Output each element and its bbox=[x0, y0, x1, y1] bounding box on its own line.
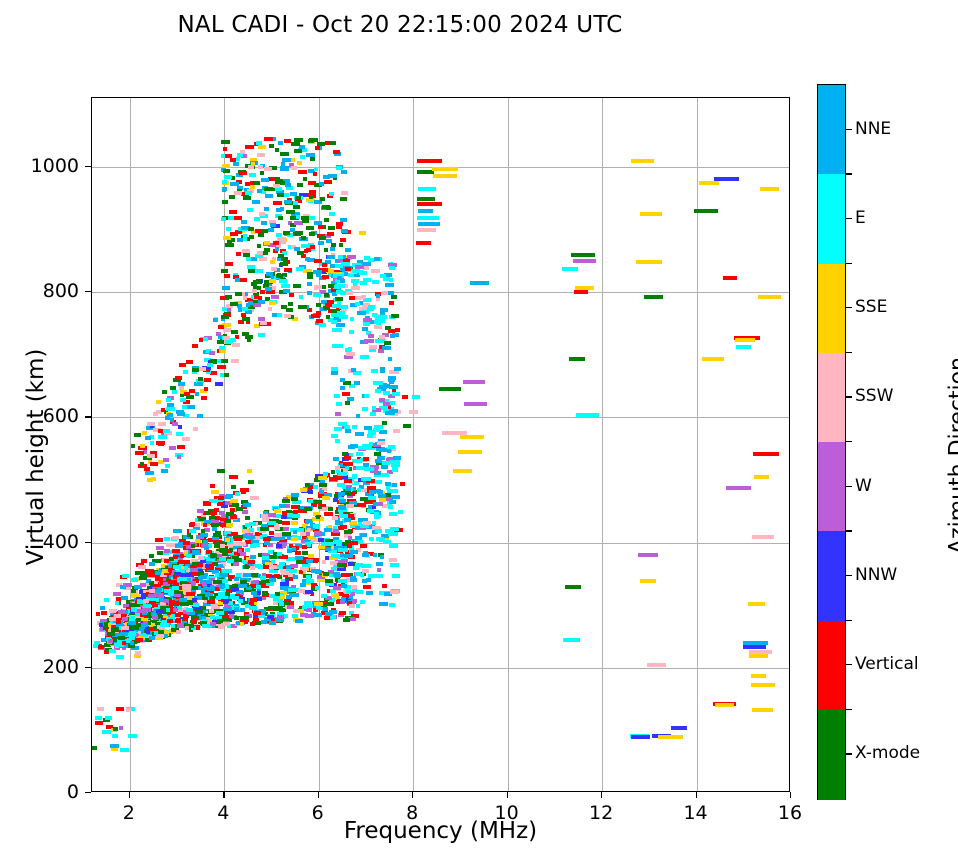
echo-mark bbox=[383, 540, 391, 544]
echo-mark bbox=[204, 387, 208, 391]
colorbar-title: Azimuth Direction bbox=[946, 336, 958, 576]
echo-mark bbox=[197, 509, 204, 513]
echo-mark bbox=[203, 523, 207, 527]
x-tick-mark bbox=[129, 792, 130, 798]
echo-mark bbox=[314, 167, 318, 171]
echo-mark bbox=[178, 425, 182, 429]
echo-mark bbox=[295, 551, 301, 555]
echo-mark bbox=[362, 553, 367, 557]
echo-mark bbox=[96, 612, 100, 616]
echo-mark bbox=[346, 352, 355, 356]
echo-mark bbox=[297, 251, 304, 255]
y-tick-mark bbox=[85, 166, 91, 167]
echo-mark bbox=[225, 519, 231, 523]
colorbar bbox=[817, 84, 846, 800]
echo-mark bbox=[305, 483, 310, 487]
echo-mark bbox=[345, 248, 351, 252]
echo-mark bbox=[135, 451, 144, 455]
echo-mark bbox=[418, 209, 433, 213]
echo-mark bbox=[309, 190, 316, 194]
echo-mark bbox=[323, 472, 328, 476]
echo-mark bbox=[341, 597, 346, 601]
y-tick-mark bbox=[85, 291, 91, 292]
echo-mark bbox=[314, 259, 322, 263]
echo-mark bbox=[243, 253, 250, 257]
echo-mark bbox=[331, 313, 340, 317]
echo-mark bbox=[254, 611, 261, 615]
echo-mark bbox=[155, 538, 163, 542]
echo-mark bbox=[349, 330, 354, 334]
echo-mark bbox=[284, 268, 292, 272]
echo-mark bbox=[439, 387, 461, 391]
echo-mark bbox=[374, 257, 380, 261]
echo-mark bbox=[385, 326, 391, 330]
echo-mark bbox=[207, 363, 213, 367]
echo-mark bbox=[354, 381, 360, 385]
echo-mark bbox=[357, 488, 361, 492]
echo-mark bbox=[230, 499, 238, 503]
echo-mark bbox=[224, 175, 232, 179]
echo-mark bbox=[346, 291, 353, 295]
echo-mark bbox=[714, 177, 739, 181]
echo-mark bbox=[177, 412, 185, 416]
echo-mark bbox=[164, 589, 172, 593]
echo-mark bbox=[384, 341, 391, 345]
echo-mark bbox=[280, 152, 289, 156]
echo-mark bbox=[280, 582, 289, 586]
echo-mark bbox=[341, 573, 349, 577]
echo-mark bbox=[209, 351, 215, 355]
echo-mark bbox=[311, 569, 320, 573]
echo-mark bbox=[277, 193, 284, 197]
echo-mark bbox=[219, 573, 228, 577]
echo-mark bbox=[281, 284, 290, 288]
echo-mark bbox=[270, 223, 276, 227]
echo-mark bbox=[279, 504, 286, 508]
echo-mark bbox=[156, 441, 165, 445]
echo-mark bbox=[180, 602, 188, 606]
echo-mark bbox=[360, 544, 367, 548]
echo-mark bbox=[432, 167, 458, 171]
echo-mark bbox=[118, 636, 125, 640]
echo-mark bbox=[171, 624, 175, 628]
echo-mark bbox=[250, 496, 259, 500]
echo-mark bbox=[295, 196, 301, 200]
echo-mark bbox=[264, 241, 270, 245]
echo-mark bbox=[166, 608, 170, 612]
echo-mark bbox=[146, 630, 150, 634]
echo-mark bbox=[109, 649, 116, 653]
echo-mark bbox=[749, 654, 768, 658]
echo-mark bbox=[262, 556, 269, 560]
echo-mark bbox=[375, 389, 381, 393]
echo-mark bbox=[209, 596, 215, 600]
echo-mark bbox=[197, 382, 203, 386]
echo-mark bbox=[314, 613, 322, 617]
colorbar-boundary-tick bbox=[846, 263, 852, 264]
echo-mark bbox=[264, 248, 270, 252]
echo-mark bbox=[320, 517, 324, 521]
echo-mark bbox=[225, 538, 230, 542]
echo-mark bbox=[308, 139, 314, 143]
echo-mark bbox=[288, 573, 293, 577]
echo-mark bbox=[229, 210, 237, 214]
echo-mark bbox=[235, 292, 242, 296]
echo-mark bbox=[389, 603, 395, 607]
y-tick-label: 200 bbox=[11, 656, 79, 678]
echo-mark bbox=[340, 378, 345, 382]
echo-mark bbox=[141, 559, 147, 563]
echo-mark bbox=[349, 604, 355, 608]
echo-mark bbox=[233, 542, 240, 546]
echo-mark bbox=[95, 721, 103, 725]
echo-mark bbox=[638, 553, 658, 557]
echo-mark bbox=[383, 384, 390, 388]
echo-mark bbox=[341, 191, 348, 195]
echo-mark bbox=[141, 623, 148, 627]
echo-mark bbox=[640, 579, 656, 583]
echo-mark bbox=[355, 536, 362, 540]
echo-mark bbox=[313, 485, 318, 489]
echo-mark bbox=[390, 489, 398, 493]
echo-mark bbox=[234, 537, 242, 541]
echo-mark bbox=[213, 318, 218, 322]
echo-mark bbox=[313, 172, 317, 176]
echo-mark bbox=[177, 577, 185, 581]
echo-mark bbox=[356, 414, 360, 418]
echo-mark bbox=[263, 565, 269, 569]
echo-mark bbox=[326, 206, 331, 210]
echo-mark bbox=[321, 594, 327, 598]
echo-mark bbox=[391, 295, 397, 299]
echo-mark bbox=[284, 193, 289, 197]
echo-mark bbox=[330, 141, 336, 145]
echo-mark bbox=[197, 414, 203, 418]
echo-mark bbox=[147, 422, 155, 426]
echo-mark bbox=[239, 171, 247, 175]
echo-mark bbox=[226, 227, 231, 231]
echo-mark bbox=[262, 591, 268, 595]
echo-mark bbox=[243, 237, 247, 241]
echo-mark bbox=[378, 319, 385, 323]
echo-mark bbox=[383, 391, 390, 395]
echo-mark bbox=[388, 357, 392, 361]
echo-mark bbox=[119, 726, 123, 730]
echo-mark bbox=[278, 216, 283, 220]
echo-mark bbox=[225, 592, 230, 596]
echo-mark bbox=[175, 619, 181, 623]
echo-mark bbox=[372, 521, 376, 525]
echo-mark bbox=[338, 579, 347, 583]
echo-mark bbox=[269, 531, 274, 535]
echo-mark bbox=[336, 290, 343, 294]
echo-mark bbox=[277, 565, 283, 569]
echo-mark bbox=[333, 586, 341, 590]
echo-mark bbox=[416, 241, 431, 245]
echo-mark bbox=[368, 505, 372, 509]
echo-mark bbox=[135, 651, 141, 655]
echo-mark bbox=[385, 283, 394, 287]
echo-mark bbox=[268, 513, 276, 517]
echo-mark bbox=[129, 616, 135, 620]
echo-mark bbox=[134, 433, 141, 437]
echo-mark bbox=[210, 622, 216, 626]
echo-mark bbox=[748, 602, 765, 606]
echo-mark bbox=[327, 602, 334, 606]
echo-mark bbox=[644, 295, 663, 299]
echo-mark bbox=[154, 593, 163, 597]
echo-mark bbox=[252, 200, 260, 204]
echo-mark bbox=[248, 480, 254, 484]
echo-mark bbox=[378, 494, 386, 498]
echo-mark bbox=[390, 590, 399, 594]
echo-mark bbox=[120, 748, 129, 752]
echo-mark bbox=[136, 638, 143, 642]
echo-mark bbox=[362, 407, 368, 411]
echo-mark bbox=[316, 319, 323, 323]
echo-mark bbox=[224, 373, 229, 377]
echo-mark bbox=[364, 256, 370, 260]
echo-mark bbox=[364, 394, 369, 398]
echo-mark bbox=[379, 335, 385, 339]
echo-mark bbox=[271, 537, 280, 541]
echo-mark bbox=[207, 600, 215, 604]
echo-mark bbox=[197, 563, 203, 567]
echo-mark bbox=[293, 609, 300, 613]
echo-mark bbox=[156, 546, 164, 550]
echo-mark bbox=[350, 576, 356, 580]
echo-mark bbox=[363, 318, 372, 322]
echo-mark bbox=[326, 542, 334, 546]
echo-mark bbox=[363, 457, 369, 461]
echo-mark bbox=[631, 159, 654, 163]
echo-mark bbox=[205, 564, 210, 568]
echo-mark bbox=[183, 370, 188, 374]
echo-mark bbox=[257, 153, 265, 157]
echo-mark bbox=[269, 621, 276, 625]
echo-mark bbox=[402, 395, 408, 399]
echo-mark bbox=[360, 355, 369, 359]
echo-mark bbox=[154, 631, 158, 635]
echo-mark bbox=[291, 505, 298, 509]
echo-mark bbox=[387, 449, 391, 453]
echo-mark bbox=[324, 293, 329, 297]
echo-mark bbox=[184, 566, 188, 570]
echo-mark bbox=[112, 627, 119, 631]
echo-mark bbox=[131, 444, 135, 448]
echo-mark bbox=[264, 541, 270, 545]
colorbar-segment-e bbox=[818, 174, 845, 264]
echo-mark bbox=[280, 262, 288, 266]
echo-mark bbox=[702, 357, 724, 361]
echo-mark bbox=[166, 398, 171, 402]
echo-mark bbox=[268, 550, 273, 554]
echo-mark bbox=[195, 392, 199, 396]
echo-mark bbox=[390, 460, 400, 464]
echo-mark bbox=[368, 496, 376, 500]
echo-mark bbox=[291, 166, 297, 170]
echo-mark bbox=[142, 431, 147, 435]
echo-mark bbox=[221, 359, 228, 363]
echo-mark bbox=[221, 269, 228, 273]
echo-mark bbox=[339, 243, 343, 247]
echo-mark bbox=[324, 268, 328, 272]
colorbar-boundary-tick bbox=[846, 620, 852, 621]
echo-mark bbox=[92, 746, 97, 750]
echo-mark bbox=[140, 583, 146, 587]
echo-mark bbox=[388, 291, 394, 295]
echo-mark bbox=[392, 574, 400, 578]
echo-mark bbox=[243, 573, 251, 577]
echo-mark bbox=[356, 590, 363, 594]
echo-mark bbox=[389, 558, 397, 562]
echo-mark bbox=[150, 462, 158, 466]
echo-mark bbox=[369, 345, 377, 349]
echo-mark bbox=[316, 515, 320, 519]
echo-mark bbox=[236, 252, 241, 256]
echo-mark bbox=[373, 428, 380, 432]
echo-mark bbox=[169, 557, 174, 561]
echo-mark bbox=[373, 553, 377, 557]
echo-mark bbox=[236, 507, 243, 511]
echo-mark bbox=[249, 173, 256, 177]
echo-mark bbox=[222, 180, 227, 184]
echo-mark bbox=[215, 516, 220, 520]
echo-mark bbox=[147, 454, 155, 458]
echo-mark bbox=[307, 272, 313, 276]
echo-mark bbox=[331, 470, 335, 474]
echo-mark bbox=[222, 622, 230, 626]
echo-mark bbox=[376, 574, 383, 578]
echo-mark bbox=[257, 251, 263, 255]
echo-mark bbox=[166, 407, 175, 411]
echo-mark bbox=[295, 619, 303, 623]
echo-mark bbox=[220, 296, 224, 300]
echo-mark bbox=[201, 396, 207, 400]
echo-mark bbox=[327, 255, 335, 259]
echo-mark bbox=[128, 621, 136, 625]
echo-mark bbox=[371, 269, 380, 273]
echo-mark bbox=[341, 170, 347, 174]
echo-mark bbox=[338, 505, 346, 509]
echo-mark bbox=[277, 615, 284, 619]
echo-mark bbox=[271, 295, 279, 299]
echo-mark bbox=[715, 703, 734, 707]
colorbar-label-nne: NNE bbox=[855, 119, 891, 139]
echo-mark bbox=[319, 323, 326, 327]
echo-mark bbox=[368, 334, 374, 338]
echo-mark bbox=[268, 521, 276, 525]
echo-mark bbox=[122, 641, 126, 645]
echo-mark bbox=[231, 359, 239, 363]
echo-mark bbox=[390, 334, 395, 338]
echo-mark bbox=[217, 502, 224, 506]
echo-mark bbox=[366, 591, 373, 595]
echo-mark bbox=[241, 313, 246, 317]
echo-mark bbox=[369, 537, 374, 541]
echo-mark bbox=[339, 499, 346, 503]
echo-mark bbox=[260, 576, 266, 580]
echo-mark bbox=[301, 244, 310, 248]
echo-mark bbox=[171, 614, 175, 618]
echo-mark bbox=[172, 390, 177, 394]
echo-mark bbox=[344, 479, 352, 483]
echo-mark bbox=[347, 255, 356, 259]
echo-mark bbox=[751, 674, 766, 678]
echo-mark bbox=[334, 394, 340, 398]
echo-mark bbox=[333, 150, 340, 154]
echo-mark bbox=[293, 284, 301, 288]
echo-mark bbox=[169, 446, 176, 450]
echo-mark bbox=[324, 180, 332, 184]
echo-mark bbox=[314, 531, 322, 535]
colorbar-tick-mark bbox=[846, 218, 852, 219]
echo-mark bbox=[377, 456, 385, 460]
echo-mark bbox=[257, 189, 262, 193]
echo-mark bbox=[143, 604, 151, 608]
echo-mark bbox=[357, 311, 366, 315]
echo-mark bbox=[216, 611, 224, 615]
echo-mark bbox=[226, 523, 233, 527]
echo-mark bbox=[131, 608, 137, 612]
echo-mark bbox=[150, 441, 154, 445]
echo-mark bbox=[104, 598, 109, 602]
echo-mark bbox=[231, 485, 236, 489]
echo-mark bbox=[723, 276, 737, 280]
colorbar-boundary-tick bbox=[846, 709, 852, 710]
echo-mark bbox=[273, 201, 282, 205]
echo-mark bbox=[357, 503, 366, 507]
echo-mark bbox=[240, 278, 247, 282]
colorbar-boundary-tick bbox=[846, 173, 852, 174]
echo-mark bbox=[190, 522, 195, 526]
echo-mark bbox=[433, 174, 457, 178]
echo-mark bbox=[268, 307, 272, 311]
echo-mark bbox=[329, 477, 337, 481]
echo-mark bbox=[331, 593, 339, 597]
echo-mark bbox=[265, 287, 272, 291]
echo-mark bbox=[192, 368, 199, 372]
echo-mark bbox=[372, 406, 376, 410]
echo-mark bbox=[309, 232, 315, 236]
echo-mark bbox=[332, 516, 338, 520]
echo-mark bbox=[157, 587, 162, 591]
echo-mark bbox=[151, 477, 156, 481]
echo-mark bbox=[179, 363, 186, 367]
echo-mark bbox=[286, 504, 290, 508]
echo-mark bbox=[324, 248, 328, 252]
echo-mark bbox=[300, 532, 306, 536]
echo-mark bbox=[179, 386, 184, 390]
echo-mark bbox=[743, 645, 766, 649]
echo-mark bbox=[640, 212, 662, 216]
echo-mark bbox=[225, 154, 232, 158]
echo-mark bbox=[323, 572, 329, 576]
echo-mark bbox=[180, 554, 184, 558]
echo-mark bbox=[726, 486, 751, 490]
echo-mark bbox=[342, 392, 350, 396]
echo-mark bbox=[388, 505, 393, 509]
echo-mark bbox=[192, 550, 200, 554]
echo-mark bbox=[374, 325, 382, 329]
echo-mark bbox=[319, 483, 327, 487]
echo-mark bbox=[565, 585, 581, 589]
echo-mark bbox=[251, 591, 257, 595]
echo-mark bbox=[186, 545, 191, 549]
echo-mark bbox=[250, 555, 256, 559]
echo-mark bbox=[362, 327, 368, 331]
echo-mark bbox=[325, 579, 333, 583]
